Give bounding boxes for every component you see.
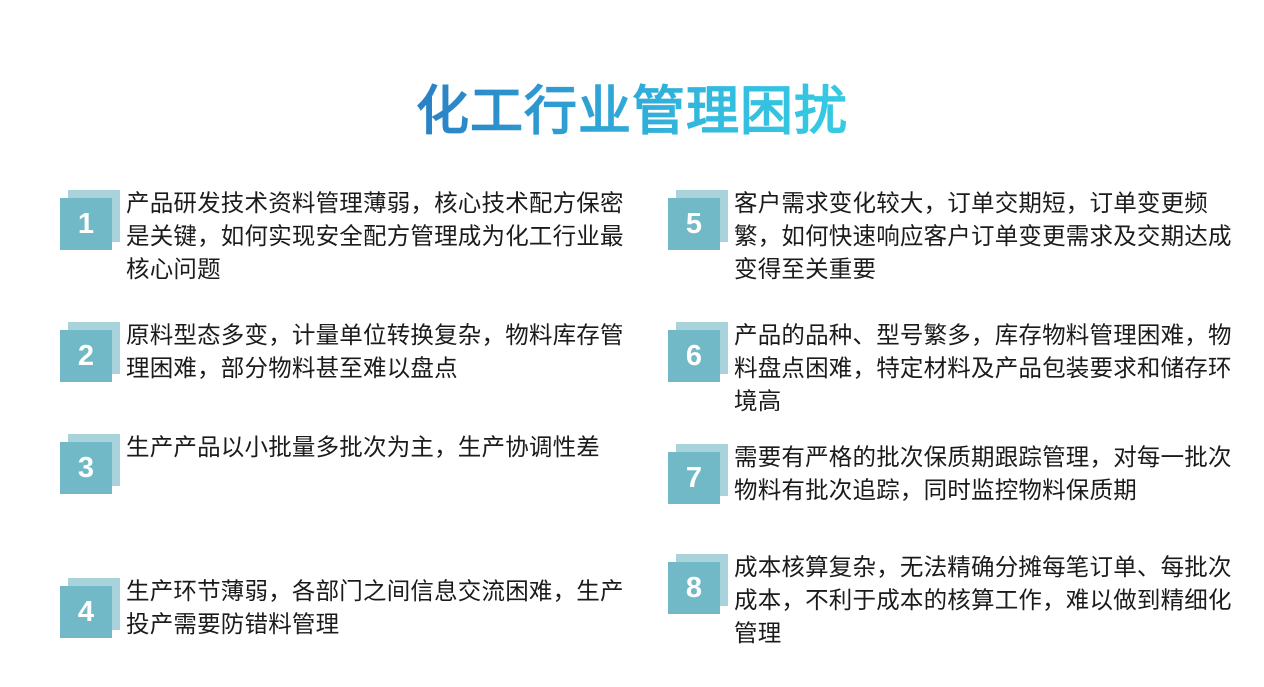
number-badge: 7: [666, 444, 734, 508]
list-item-text: 成本核算复杂，无法精确分摊每笔订单、每批次成本，不利于成本的核算工作，难以做到精…: [734, 550, 1236, 650]
number-badge: 1: [58, 190, 126, 254]
badge-number: 4: [60, 586, 112, 638]
badge-number: 3: [60, 442, 112, 494]
list-item: 4 生产环节薄弱，各部门之间信息交流困难，生产投产需要防错料管理: [58, 574, 628, 642]
right-column: 5 客户需求变化较大，订单交期短，订单变更频繁，如何快速响应客户订单变更需求及交…: [666, 186, 1236, 650]
list-item: 2 原料型态多变，计量单位转换复杂，物料库存管理困难，部分物料甚至难以盘点: [58, 318, 628, 386]
left-column: 1 产品研发技术资料管理薄弱，核心技术配方保密是关键，如何实现安全配方管理成为化…: [58, 186, 628, 642]
list-item: 1 产品研发技术资料管理薄弱，核心技术配方保密是关键，如何实现安全配方管理成为化…: [58, 186, 628, 286]
badge-number: 7: [668, 452, 720, 504]
number-badge: 8: [666, 554, 734, 618]
page-title: 化工行业管理困扰: [416, 82, 848, 143]
badge-number: 8: [668, 562, 720, 614]
page-title-container: 化工行业管理困扰: [0, 46, 1264, 178]
badge-number: 5: [668, 198, 720, 250]
list-item-text: 原料型态多变，计量单位转换复杂，物料库存管理困难，部分物料甚至难以盘点: [126, 318, 628, 385]
list-item-text: 产品的品种、型号繁多，库存物料管理困难，物料盘点困难，特定材料及产品包装要求和储…: [734, 318, 1236, 418]
list-item: 3 生产产品以小批量多批次为主，生产协调性差: [58, 430, 628, 498]
badge-number: 2: [60, 330, 112, 382]
list-item-text: 产品研发技术资料管理薄弱，核心技术配方保密是关键，如何实现安全配方管理成为化工行…: [126, 186, 628, 286]
list-item-text: 需要有严格的批次保质期跟踪管理，对每一批次物料有批次追踪，同时监控物料保质期: [734, 440, 1236, 507]
list-item-text: 生产产品以小批量多批次为主，生产协调性差: [126, 430, 628, 464]
number-badge: 2: [58, 322, 126, 386]
number-badge: 5: [666, 190, 734, 254]
list-item: 6 产品的品种、型号繁多，库存物料管理困难，物料盘点困难，特定材料及产品包装要求…: [666, 318, 1236, 418]
list-item: 8 成本核算复杂，无法精确分摊每笔订单、每批次成本，不利于成本的核算工作，难以做…: [666, 550, 1236, 650]
list-item-text: 客户需求变化较大，订单交期短，订单变更频繁，如何快速响应客户订单变更需求及交期达…: [734, 186, 1236, 286]
badge-number: 1: [60, 198, 112, 250]
number-badge: 6: [666, 322, 734, 386]
list-item: 7 需要有严格的批次保质期跟踪管理，对每一批次物料有批次追踪，同时监控物料保质期: [666, 440, 1236, 508]
list-item: 5 客户需求变化较大，订单交期短，订单变更频繁，如何快速响应客户订单变更需求及交…: [666, 186, 1236, 286]
list-item-text: 生产环节薄弱，各部门之间信息交流困难，生产投产需要防错料管理: [126, 574, 628, 641]
badge-number: 6: [668, 330, 720, 382]
number-badge: 4: [58, 578, 126, 642]
slide-canvas: 化工行业管理困扰 1 产品研发技术资料管理薄弱，核心技术配方保密是关键，如何实现…: [0, 0, 1264, 687]
number-badge: 3: [58, 434, 126, 498]
